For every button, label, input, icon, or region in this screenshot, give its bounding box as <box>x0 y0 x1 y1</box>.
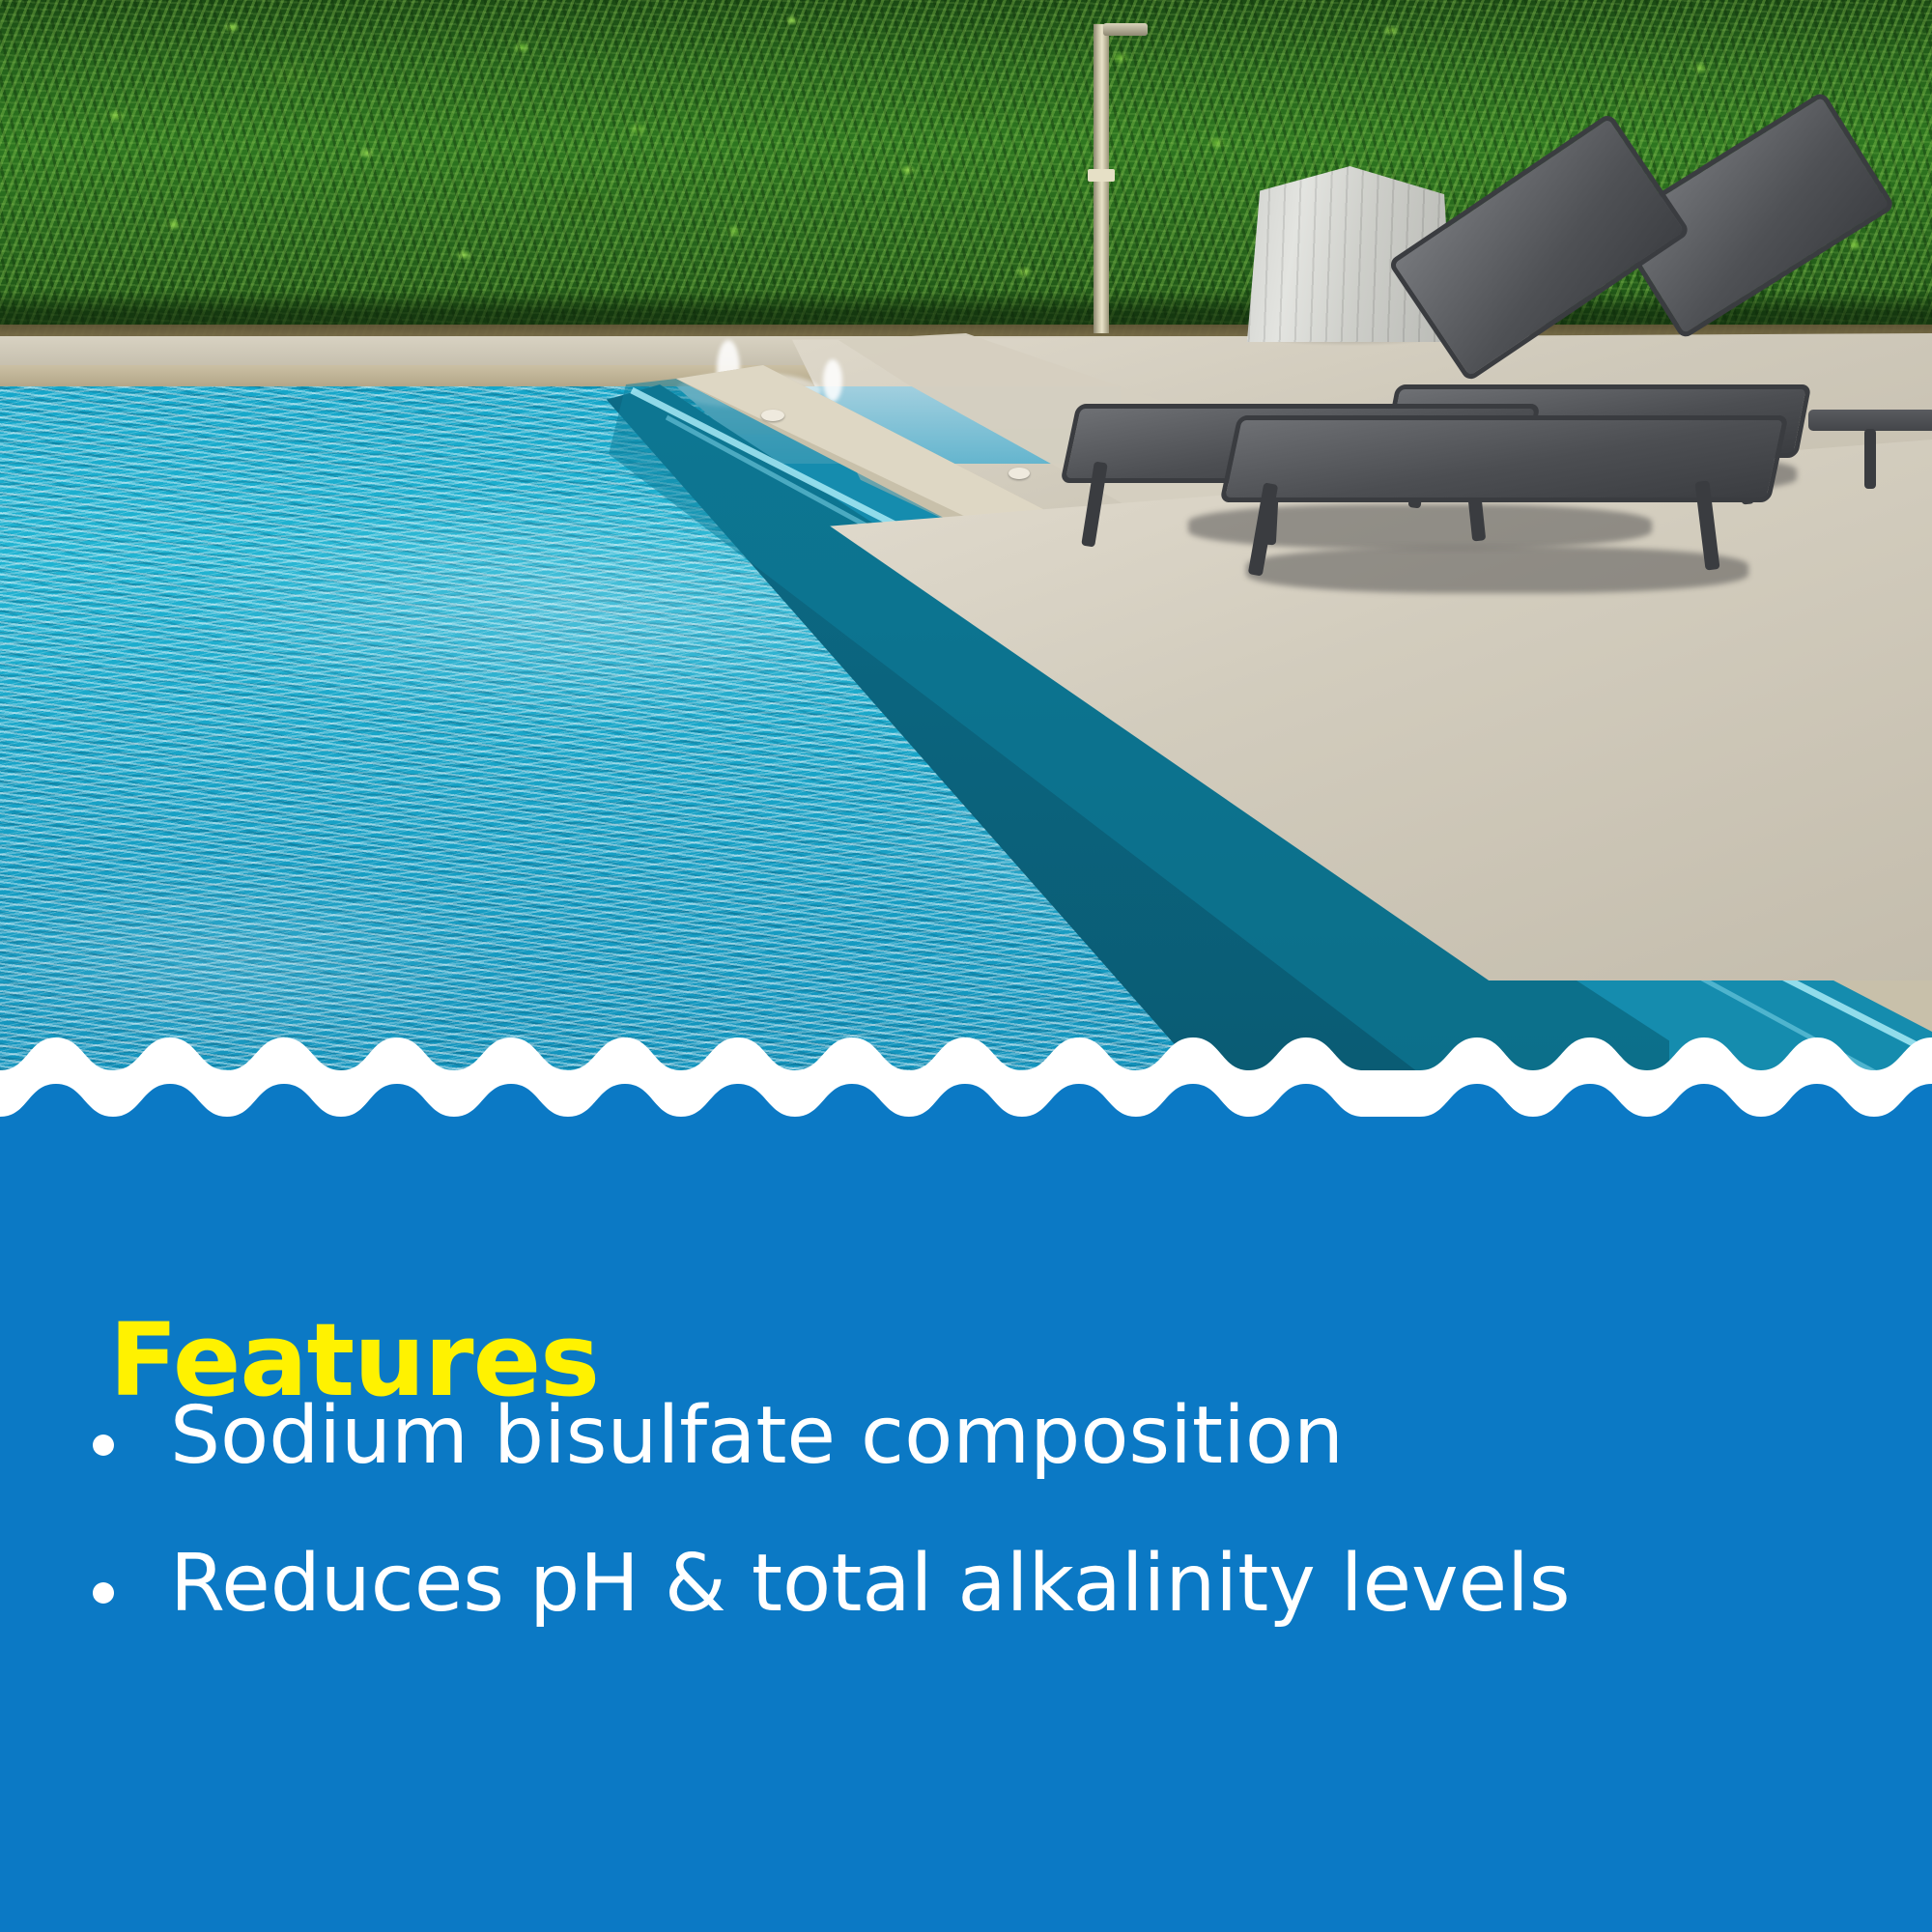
feature-text: Reduces pH & total alkalinity levels <box>170 1542 1571 1628</box>
side-table-leg <box>1864 429 1876 489</box>
pool-photo <box>0 0 1932 1125</box>
water-jet-2 <box>823 359 842 402</box>
feature-text: Sodium bisulfate composition <box>170 1394 1344 1480</box>
deck-fitting-2 <box>761 410 784 421</box>
lounge-chair-near-shadow <box>1246 547 1748 593</box>
product-feature-card: Features Sodium bisulfate composition Re… <box>0 0 1932 1932</box>
side-table <box>1808 410 1932 431</box>
deck-fitting-1 <box>1009 468 1030 479</box>
bullet-dot-icon <box>93 1582 114 1604</box>
shower-valve-knob <box>1088 169 1115 182</box>
bullet-dot-icon <box>93 1435 114 1456</box>
shower-head-icon <box>1103 23 1148 36</box>
list-item: Sodium bisulfate composition <box>93 1394 1851 1480</box>
list-item: Reduces pH & total alkalinity levels <box>93 1542 1851 1628</box>
water-jet-3 <box>676 373 821 408</box>
features-list: Sodium bisulfate composition Reduces pH … <box>93 1394 1851 1689</box>
